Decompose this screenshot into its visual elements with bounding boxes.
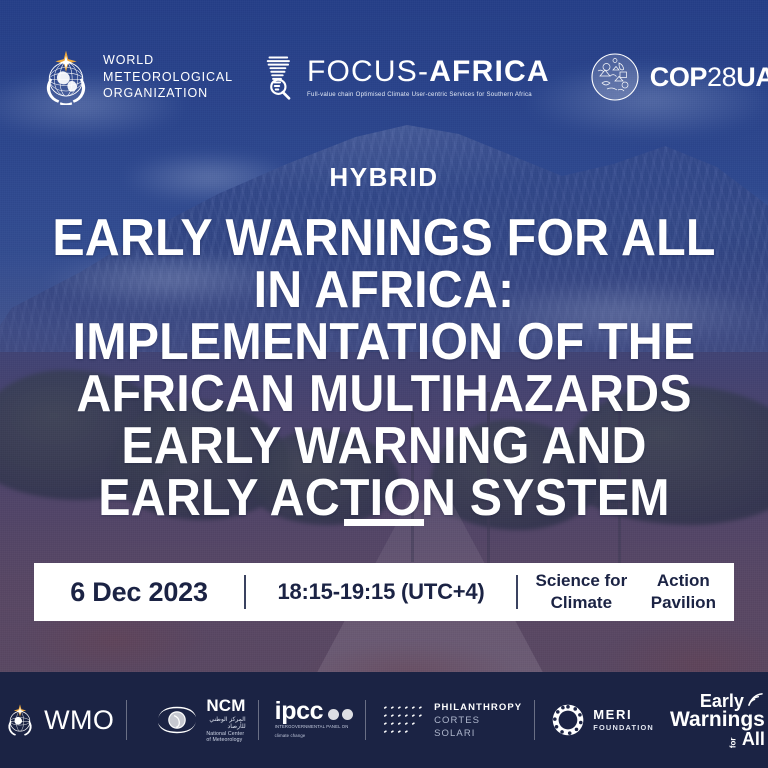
wmo-header-logo: WORLD METEOROLOGICAL ORGANIZATION bbox=[38, 49, 233, 105]
hybrid-eyebrow-label: HYBRID bbox=[0, 162, 768, 193]
venue-line2: Action Pavilion bbox=[639, 570, 728, 614]
wmo-abbreviation: WMO bbox=[44, 705, 114, 736]
focus-africa-tagline: Full-value chain Optimised Climate User-… bbox=[307, 91, 550, 98]
meri-foundation-circular-icon bbox=[551, 703, 585, 737]
meri-name: MERI bbox=[593, 708, 654, 722]
footer-divider bbox=[126, 700, 127, 740]
ipcc-subtitle-line2: climate change bbox=[275, 733, 306, 739]
focus-africa-wordmark: FOCUS-AFRICA bbox=[307, 57, 550, 87]
ipcc-subtitle-line1: INTERGOVERNMENTAL PANEL ON bbox=[275, 724, 349, 730]
cop28-wordmark: COP28UAE bbox=[650, 64, 768, 91]
meri-foundation-footer-logo: MERI FOUNDATION bbox=[551, 703, 654, 737]
ncm-swirl-globe-icon bbox=[155, 705, 199, 735]
title-divider bbox=[344, 519, 424, 526]
event-date: 6 Dec 2023 bbox=[34, 577, 244, 608]
wmo-word-line2: METEOROLOGICAL bbox=[103, 69, 233, 86]
ncm-arabic-name: المركز الوطني للأرصاد bbox=[206, 716, 245, 730]
philanthropy-dots-icon bbox=[382, 703, 426, 737]
venue-line1: Science for Climate bbox=[524, 570, 639, 614]
ipcc-footer-logo: ipcc INTERGOVERNMENTAL PANEL ON climate … bbox=[275, 701, 353, 739]
event-time: 18:15-19:15 (UTC+4) bbox=[246, 579, 516, 605]
wmo-word-line1: WORLD bbox=[103, 52, 233, 69]
ewfa-line2: Warnings bbox=[670, 710, 765, 730]
page-title: EARLY WARNINGS FOR ALL IN AFRICA: IMPLEM… bbox=[51, 212, 717, 524]
wmo-wordmark: WORLD METEOROLOGICAL ORGANIZATION bbox=[103, 52, 233, 102]
ipcc-wordmark: ipcc bbox=[275, 701, 323, 722]
wmo-footer-logo: WMO bbox=[3, 703, 114, 737]
philanthropy-cortes-solari-footer-logo: PHILANTHROPY CORTES SOLARI bbox=[382, 702, 522, 739]
footer-divider bbox=[534, 700, 535, 740]
ewfa-all-label: All bbox=[742, 731, 765, 748]
footer-divider bbox=[365, 700, 366, 740]
philanthropy-line2: CORTES bbox=[434, 715, 522, 726]
meri-subtitle: FOUNDATION bbox=[593, 723, 654, 732]
ncm-footer-logo: NCM المركز الوطني للأرصاد National Cente… bbox=[155, 697, 245, 743]
cop28-globe-icon bbox=[590, 52, 640, 102]
focus-africa-map-magnifier-icon bbox=[263, 53, 299, 101]
ncm-full-name: National Center of Meteorology bbox=[206, 731, 245, 743]
early-warnings-for-all-footer-logo: Early Warnings for All bbox=[670, 692, 765, 748]
philanthropy-line3: SOLARI bbox=[434, 728, 522, 739]
wmo-globe-laurel-icon bbox=[3, 703, 37, 737]
header-logo-strip: WORLD METEOROLOGICAL ORGANIZATION bbox=[0, 46, 768, 108]
ewfa-for-label: for bbox=[730, 737, 738, 748]
footer-divider bbox=[258, 700, 259, 740]
ewfa-line1: Early bbox=[700, 693, 744, 710]
footer-logo-strip: WMO NCM المركز الوطني للأرصاد National C… bbox=[0, 672, 768, 768]
philanthropy-line1: PHILANTHROPY bbox=[434, 702, 522, 713]
focus-africa-header-logo: FOCUS-AFRICA Full-value chain Optimised … bbox=[263, 53, 550, 101]
event-venue: Science for Climate Action Pavilion bbox=[518, 570, 734, 614]
cop28-header-logo: COP28UAE bbox=[590, 52, 768, 102]
ncm-abbreviation: NCM bbox=[206, 697, 245, 714]
event-info-bar: 6 Dec 2023 18:15-19:15 (UTC+4) Science f… bbox=[34, 563, 734, 621]
wmo-globe-laurel-icon bbox=[38, 49, 94, 105]
un-wmo-unep-seals-icon bbox=[328, 709, 353, 722]
wmo-word-line3: ORGANIZATION bbox=[103, 85, 233, 102]
